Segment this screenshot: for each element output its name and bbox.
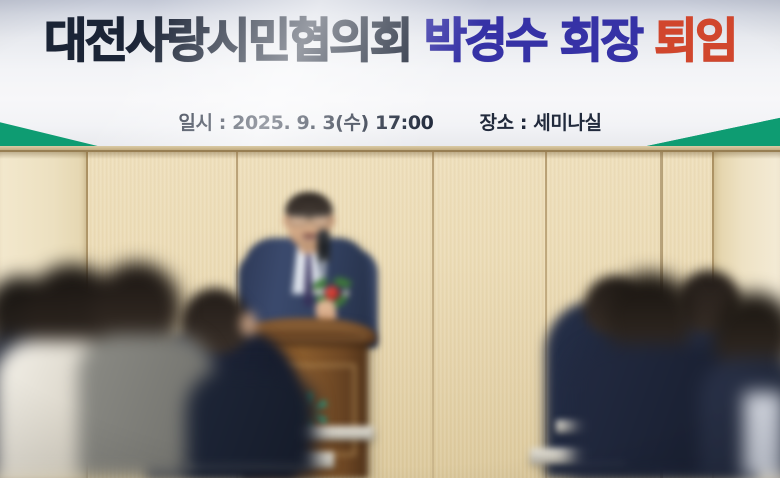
foreground-audience xyxy=(0,0,780,478)
photo-scene: 대전사랑시민협의회 박경수 회장 퇴임 일시 : 2025. 9. 3(수) 1… xyxy=(0,0,780,478)
audience-shirt xyxy=(744,392,780,478)
audience-torso xyxy=(186,370,316,478)
